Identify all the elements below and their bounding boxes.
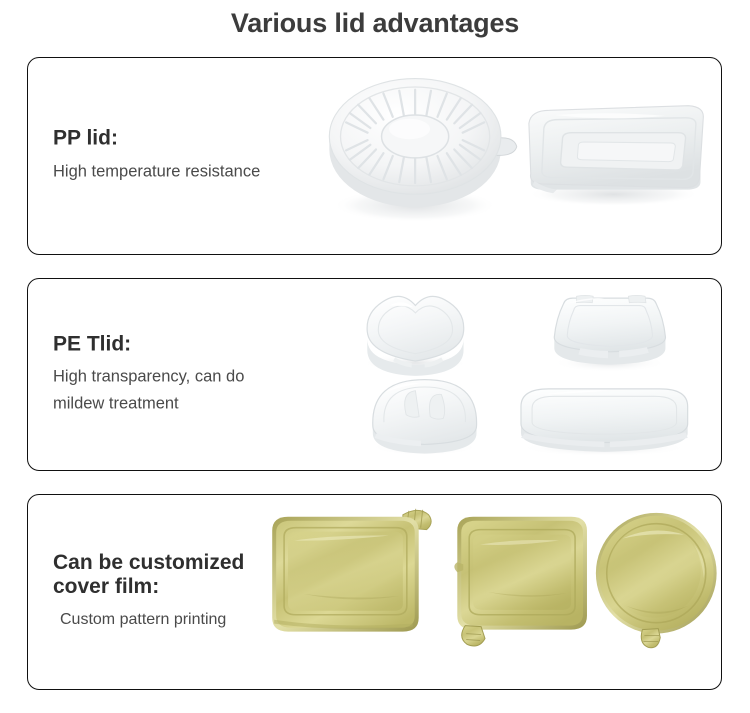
square-gold-foil-lid-art: [454, 517, 587, 646]
round-dome-pe-lid-art: [371, 380, 478, 456]
rectangular-pp-lid-art: [528, 106, 703, 207]
panel-film-product-images: [253, 495, 721, 689]
panel-pp-description: High temperature resistance: [53, 159, 343, 186]
panel-pe-description: High transparency, can do mildew treatme…: [53, 364, 343, 417]
square-dome-pe-lid-art: [552, 295, 667, 372]
panel-pp-product-images: [320, 58, 721, 254]
panel-pp-lid: PP lid: High temperature resistance: [27, 57, 722, 255]
panel-film-heading-line2: cover film:: [53, 575, 159, 598]
round-pp-lid-art: [329, 79, 516, 223]
panel-pe-lid: PE Tlid: High transparency, can do milde…: [27, 278, 722, 471]
heart-dome-pe-lid-art: [362, 296, 469, 375]
round-gold-foil-lid-art: [596, 513, 717, 648]
panel-pp-text-block: PP lid: High temperature resistance: [53, 127, 343, 186]
panel-pe-text-block: PE Tlid: High transparency, can do milde…: [53, 332, 343, 417]
oval-flat-pe-lid-art: [519, 389, 689, 457]
panel-film-heading-line1: Can be customized: [53, 551, 244, 574]
panel-cover-film: Can be customized cover film: Custom pat…: [27, 494, 722, 690]
panel-pe-description-line1: High transparency, can do: [53, 368, 244, 386]
panel-pp-heading: PP lid:: [53, 127, 343, 151]
page-title: Various lid advantages: [0, 8, 750, 39]
panel-pe-heading: PE Tlid:: [53, 332, 343, 356]
rectangular-gold-foil-lid-art: [272, 509, 431, 632]
panel-pe-description-line2: mildew treatment: [53, 394, 179, 412]
panel-pe-product-images: [358, 279, 721, 470]
